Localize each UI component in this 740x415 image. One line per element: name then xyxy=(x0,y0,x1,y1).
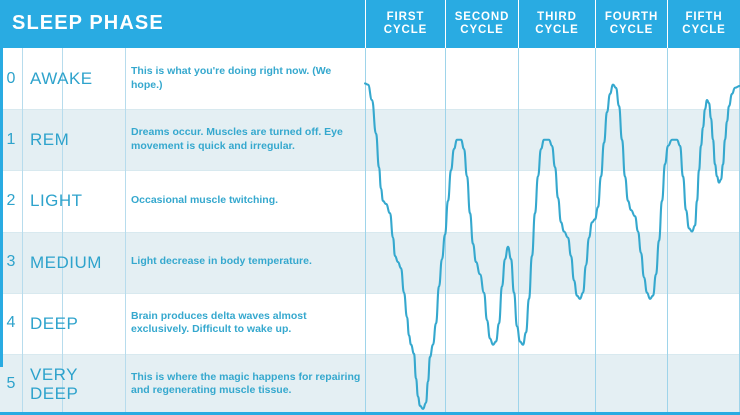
cycle-header-third-line2: CYCLE xyxy=(535,24,578,37)
row-number-medium: 3 xyxy=(0,232,22,293)
cycle-header-third: THIRD CYCLE xyxy=(518,0,595,48)
cycle-header-second: SECOND CYCLE xyxy=(445,0,518,48)
cycle-header-first-line2: CYCLE xyxy=(384,24,427,37)
row-name-light: LIGHT xyxy=(30,170,122,231)
cycle-header-first-line1: FIRST xyxy=(387,11,425,24)
row-name-very-deep: VERY DEEP xyxy=(30,354,122,415)
cycle-header-fifth: FIFTH CYCLE xyxy=(667,0,740,48)
row-description-deep: Brain produces delta waves almost exclus… xyxy=(131,293,363,354)
cycle-header-fourth-line1: FOURTH xyxy=(605,11,658,24)
left-edge-accent xyxy=(0,0,3,367)
row-name-medium: MEDIUM xyxy=(30,232,122,293)
cycle-header-second-line1: SECOND xyxy=(455,11,510,24)
sleep-phase-chart: SLEEP PHASE FIRST CYCLE SECOND CYCLE THI… xyxy=(0,0,740,415)
row-labels: 0AWAKEThis is what you're doing right no… xyxy=(0,48,740,415)
row-name-awake: AWAKE xyxy=(30,48,122,109)
row-name-rem: REM xyxy=(30,109,122,170)
row-number-very-deep: 5 xyxy=(0,354,22,415)
row-description-very-deep: This is where the magic happens for repa… xyxy=(131,354,363,415)
page-title: SLEEP PHASE xyxy=(12,12,164,35)
row-description-rem: Dreams occur. Muscles are turned off. Ey… xyxy=(131,109,363,170)
cycle-header-fifth-line1: FIFTH xyxy=(685,11,722,24)
row-number-light: 2 xyxy=(0,170,22,231)
cycle-header-fourth-line2: CYCLE xyxy=(610,24,653,37)
row-description-light: Occasional muscle twitching. xyxy=(131,170,363,231)
row-number-rem: 1 xyxy=(0,109,22,170)
row-number-deep: 4 xyxy=(0,293,22,354)
cycle-header-first: FIRST CYCLE xyxy=(365,0,445,48)
row-description-awake: This is what you're doing right now. (We… xyxy=(131,48,363,109)
cycle-header-fifth-line2: CYCLE xyxy=(682,24,725,37)
cycle-header-fourth: FOURTH CYCLE xyxy=(595,0,667,48)
cycle-header-third-line1: THIRD xyxy=(537,11,577,24)
cycle-header-second-line2: CYCLE xyxy=(460,24,503,37)
row-description-medium: Light decrease in body temperature. xyxy=(131,232,363,293)
row-number-awake: 0 xyxy=(0,48,22,109)
row-name-deep: DEEP xyxy=(30,293,122,354)
